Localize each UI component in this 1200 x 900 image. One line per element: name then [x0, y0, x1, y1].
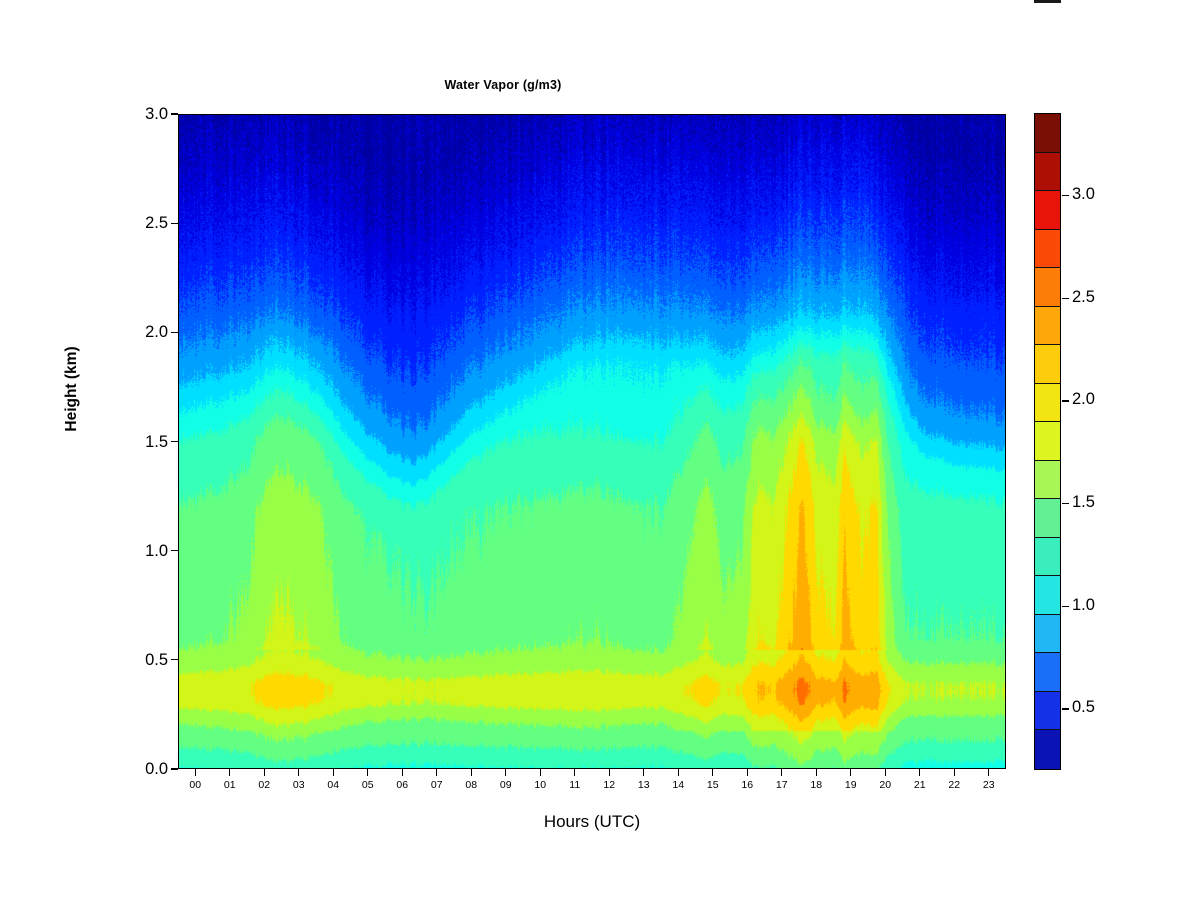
x-tick-label: 16: [732, 779, 762, 791]
colorbar-band: [1035, 499, 1060, 538]
x-tick-label: 19: [836, 779, 866, 791]
x-tick-mark: [954, 769, 955, 776]
y-tick-label: 3.0: [124, 105, 168, 124]
colorbar-tick-mark: [1062, 503, 1069, 504]
colorbar-tick-label: 2.0: [1072, 390, 1095, 409]
colorbar-band: [1035, 384, 1060, 423]
colorbar-band: [1035, 191, 1060, 230]
y-tick-mark: [171, 768, 178, 769]
y-tick-label: 2.5: [124, 214, 168, 233]
black-bar-artifact: [1034, 0, 1061, 3]
x-tick-mark: [333, 769, 334, 776]
colorbar-band: [1035, 538, 1060, 577]
x-tick-label: 04: [318, 779, 348, 791]
x-tick-mark: [505, 769, 506, 776]
x-tick-label: 01: [215, 779, 245, 791]
x-tick-label: 17: [767, 779, 797, 791]
x-tick-label: 12: [594, 779, 624, 791]
x-tick-label: 08: [456, 779, 486, 791]
y-tick-label: 1.5: [124, 433, 168, 452]
x-tick-mark: [643, 769, 644, 776]
colorbar[interactable]: [1034, 113, 1061, 770]
y-tick-label: 0.0: [124, 760, 168, 779]
y-tick-mark: [171, 113, 178, 114]
colorbar-band: [1035, 730, 1060, 769]
x-tick-label: 21: [905, 779, 935, 791]
colorbar-band: [1035, 653, 1060, 692]
x-tick-mark: [609, 769, 610, 776]
x-axis-title: Hours (UTC): [178, 812, 1006, 832]
x-tick-label: 10: [525, 779, 555, 791]
x-tick-mark: [367, 769, 368, 776]
x-tick-mark: [816, 769, 817, 776]
colorbar-tick-label: 1.0: [1072, 596, 1095, 615]
x-tick-mark: [264, 769, 265, 776]
x-tick-mark: [229, 769, 230, 776]
y-tick-label: 2.0: [124, 323, 168, 342]
x-tick-mark: [540, 769, 541, 776]
y-tick-mark: [171, 441, 178, 442]
x-tick-mark: [195, 769, 196, 776]
colorbar-band: [1035, 692, 1060, 731]
x-tick-label: 09: [491, 779, 521, 791]
x-tick-label: 00: [180, 779, 210, 791]
y-tick-label: 1.0: [124, 542, 168, 561]
x-tick-label: 20: [870, 779, 900, 791]
x-tick-label: 06: [387, 779, 417, 791]
colorbar-band: [1035, 114, 1060, 153]
colorbar-tick-mark: [1062, 195, 1069, 196]
colorbar-band: [1035, 345, 1060, 384]
x-tick-mark: [885, 769, 886, 776]
x-tick-mark: [574, 769, 575, 776]
heatmap-plot-area[interactable]: [178, 114, 1006, 769]
x-tick-label: 14: [663, 779, 693, 791]
colorbar-band: [1035, 422, 1060, 461]
figure-canvas: Water Vapor (g/m3) 0.00.51.01.52.02.53.0…: [0, 0, 1200, 900]
colorbar-band: [1035, 461, 1060, 500]
colorbar-band: [1035, 307, 1060, 346]
colorbar-tick-mark: [1062, 708, 1069, 709]
x-tick-mark: [436, 769, 437, 776]
y-tick-mark: [171, 332, 178, 333]
x-tick-label: 18: [801, 779, 831, 791]
x-tick-label: 15: [698, 779, 728, 791]
x-tick-mark: [850, 769, 851, 776]
x-tick-mark: [747, 769, 748, 776]
x-tick-mark: [678, 769, 679, 776]
colorbar-tick-label: 0.5: [1072, 698, 1095, 717]
x-tick-label: 07: [422, 779, 452, 791]
colorbar-band: [1035, 268, 1060, 307]
colorbar-tick-label: 1.5: [1072, 493, 1095, 512]
colorbar-tick-mark: [1062, 298, 1069, 299]
colorbar-tick-label: 3.0: [1072, 185, 1095, 204]
x-tick-label: 03: [284, 779, 314, 791]
y-tick-mark: [171, 223, 178, 224]
x-tick-mark: [402, 769, 403, 776]
y-axis-labels: 0.00.51.01.52.02.53.0: [110, 0, 168, 900]
x-tick-mark: [988, 769, 989, 776]
colorbar-band: [1035, 230, 1060, 269]
x-tick-mark: [919, 769, 920, 776]
colorbar-tick-mark: [1062, 606, 1069, 607]
colorbar-tick-mark: [1062, 400, 1069, 401]
y-axis-title: Height (km): [63, 309, 81, 469]
x-tick-label: 11: [560, 779, 590, 791]
x-tick-label: 23: [974, 779, 1004, 791]
x-tick-label: 13: [629, 779, 659, 791]
x-tick-label: 05: [353, 779, 383, 791]
colorbar-band: [1035, 153, 1060, 192]
x-tick-mark: [471, 769, 472, 776]
x-tick-mark: [298, 769, 299, 776]
x-tick-label: 02: [249, 779, 279, 791]
x-tick-label: 22: [939, 779, 969, 791]
x-tick-mark: [712, 769, 713, 776]
colorbar-band: [1035, 615, 1060, 654]
x-tick-mark: [781, 769, 782, 776]
y-tick-label: 0.5: [124, 651, 168, 670]
y-tick-mark: [171, 659, 178, 660]
y-tick-mark: [171, 550, 178, 551]
water-vapor-heatmap[interactable]: [179, 115, 1006, 769]
colorbar-band: [1035, 576, 1060, 615]
colorbar-tick-label: 2.5: [1072, 288, 1095, 307]
